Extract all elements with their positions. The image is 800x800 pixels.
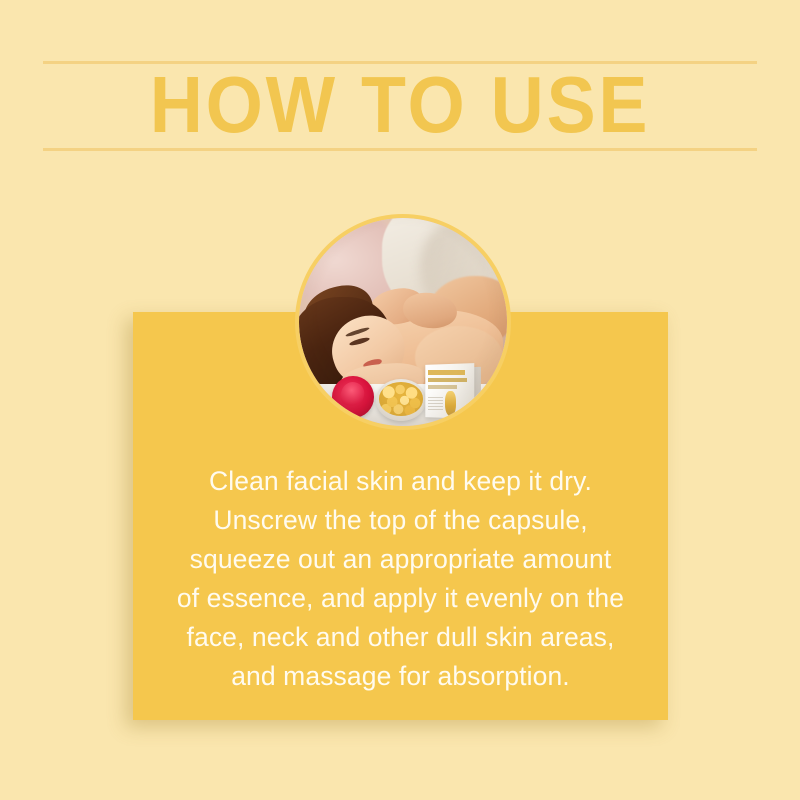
instruction-line: of essence, and apply it evenly on the xyxy=(133,579,668,618)
instruction-line: face, neck and other dull skin areas, xyxy=(133,618,668,657)
title-rule-bottom xyxy=(43,148,757,151)
instruction-line: Unscrew the top of the capsule, xyxy=(133,501,668,540)
instructions-text: Clean facial skin and keep it dry. Unscr… xyxy=(133,462,668,696)
photo-vignette xyxy=(299,218,507,426)
instruction-line: Clean facial skin and keep it dry. xyxy=(133,462,668,501)
photo-inner xyxy=(299,218,507,426)
page-title: HOW TO USE xyxy=(32,62,768,148)
instruction-line: squeeze out an appropriate amount xyxy=(133,540,668,579)
spa-massage-photo xyxy=(295,214,511,430)
header-section: HOW TO USE xyxy=(0,0,800,200)
instruction-line: and massage for absorption. xyxy=(133,657,668,696)
